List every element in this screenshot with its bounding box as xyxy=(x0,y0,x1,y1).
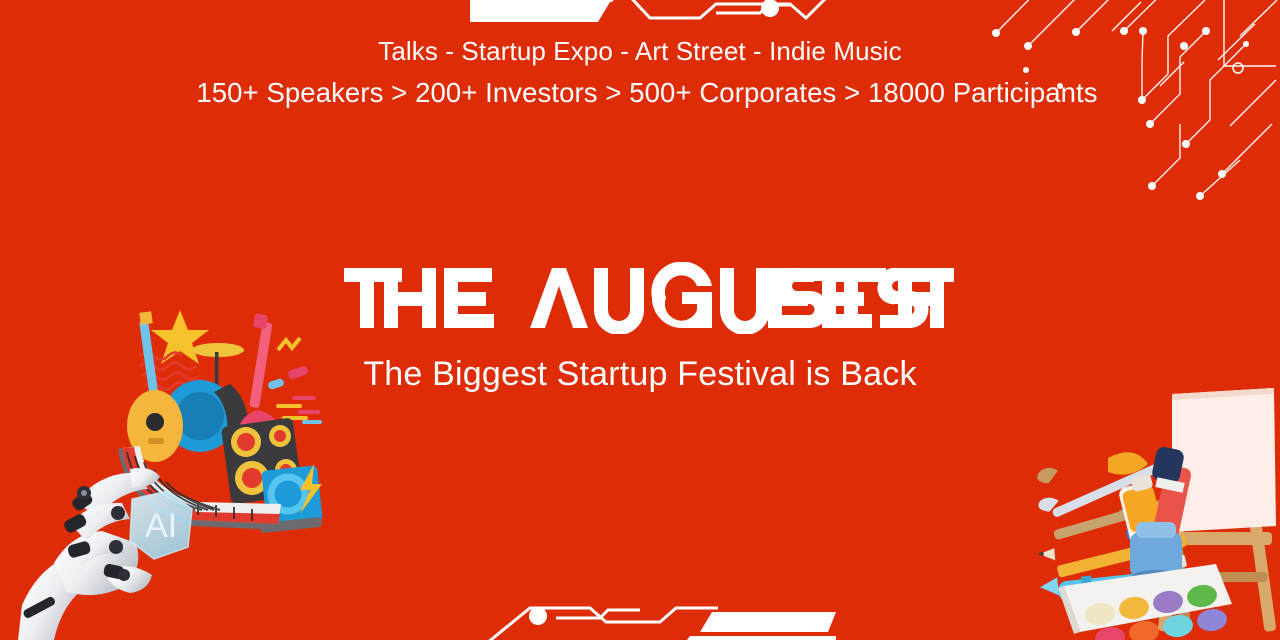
ai-cube-icon: AI xyxy=(130,491,192,559)
blank-canvas-icon xyxy=(1172,388,1276,532)
event-banner: Talks - Startup Expo - Art Street - Indi… xyxy=(0,0,1280,640)
top-center-bar-icon xyxy=(470,0,630,22)
drum-head-icon xyxy=(176,392,224,440)
bottom-center-trace-node-icon xyxy=(529,607,547,625)
title-word-the xyxy=(344,268,494,328)
confetti-icon xyxy=(267,338,320,422)
art-supplies-illustration xyxy=(1022,380,1280,640)
top-center-trace-icon xyxy=(620,0,838,18)
bottom-center-bar-icon xyxy=(674,612,836,640)
ai-cube-label: AI xyxy=(145,507,177,545)
robotic-hand-illustration: AI xyxy=(18,455,213,640)
header-text-block: Talks - Startup Expo - Art Street - Indi… xyxy=(0,34,1280,111)
top-center-trace-node-icon xyxy=(761,0,779,17)
bottom-center-trace-icon xyxy=(476,608,718,640)
stats-line: 150+ Speakers > 200+ Investors > 500+ Co… xyxy=(0,75,1280,111)
page-title-tail xyxy=(764,262,954,334)
program-line: Talks - Startup Expo - Art Street - Indi… xyxy=(0,34,1280,68)
watercolor-palette-icon xyxy=(1058,564,1232,640)
